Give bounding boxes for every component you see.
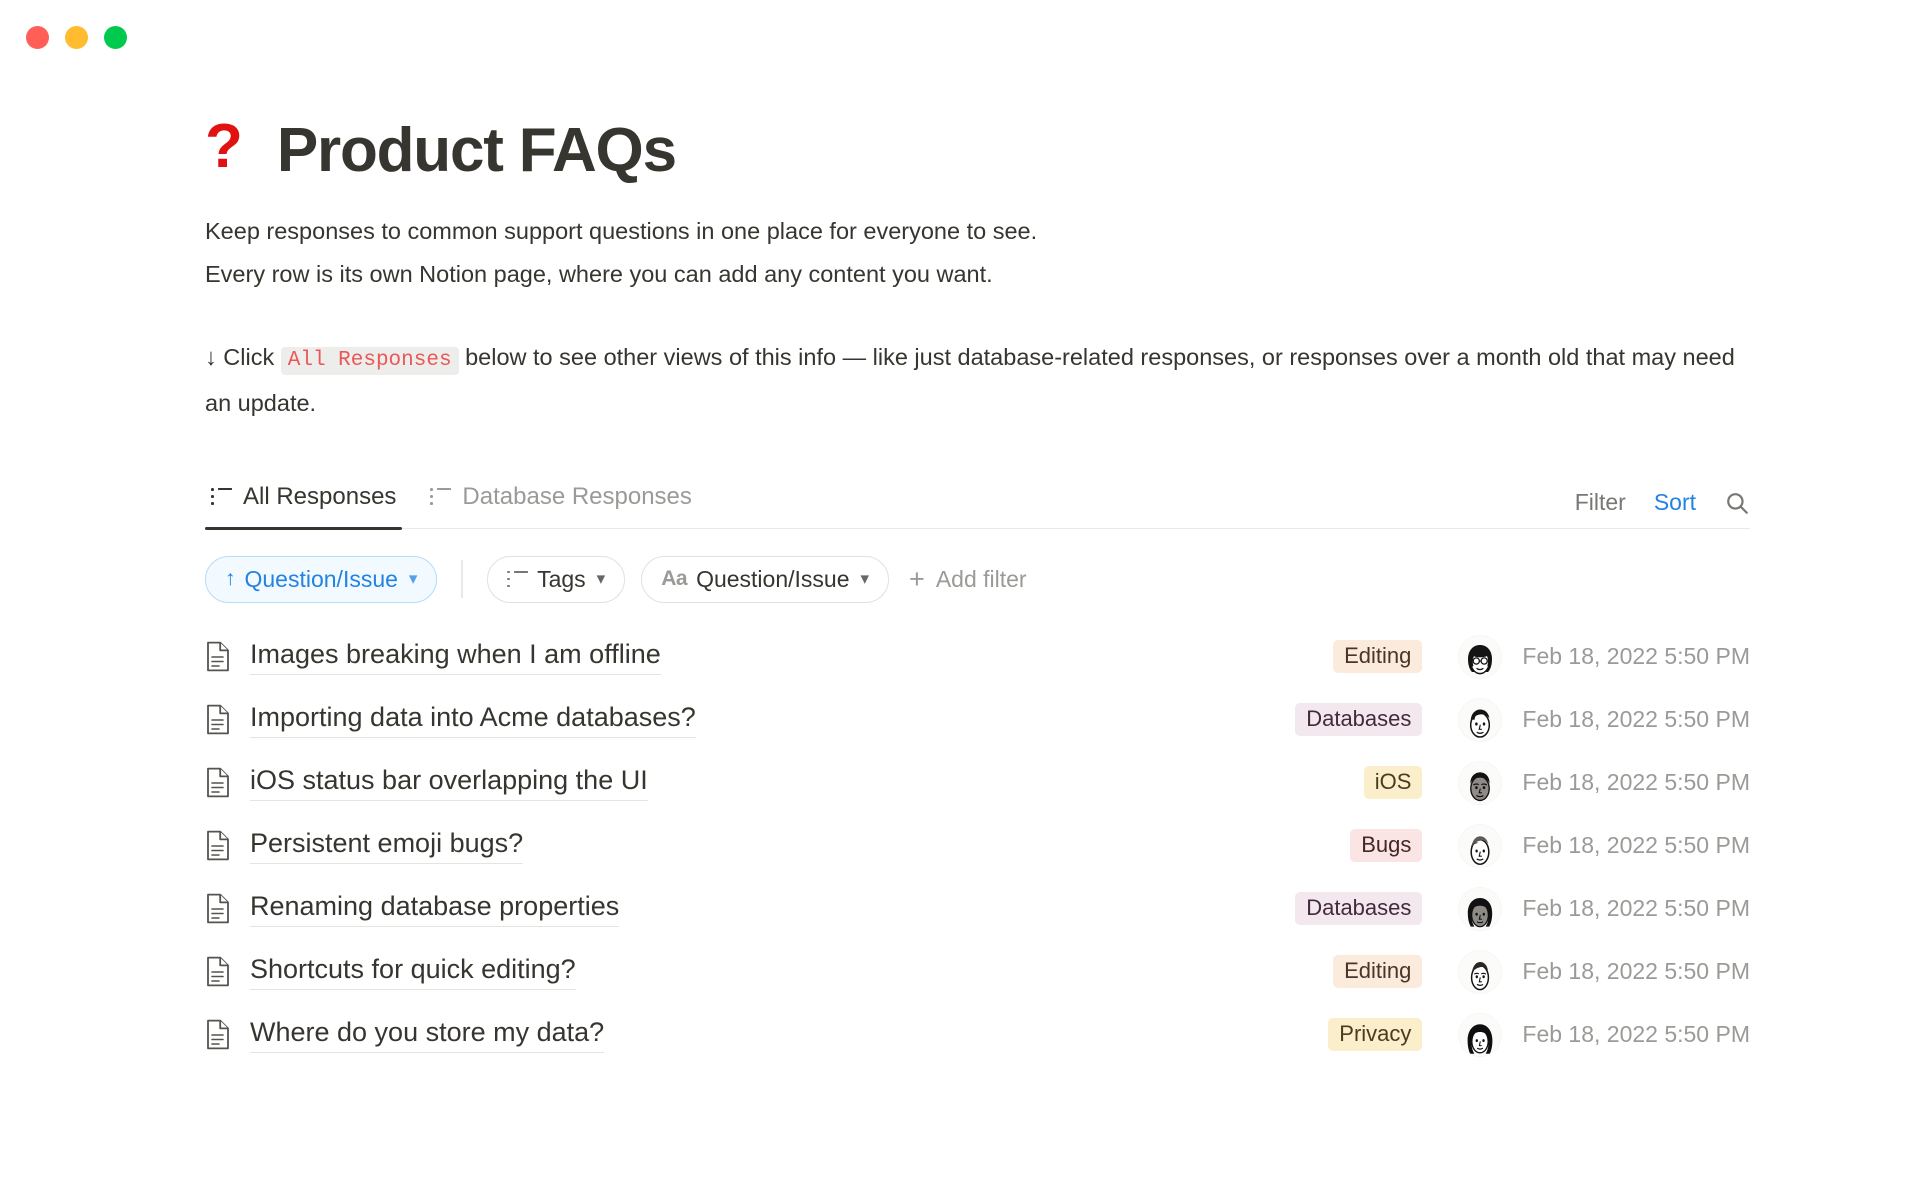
chevron-down-icon: ▾ bbox=[409, 569, 418, 589]
avatar bbox=[1459, 636, 1501, 678]
avatar-cell[interactable] bbox=[1444, 1014, 1516, 1056]
avatar-cell[interactable] bbox=[1444, 699, 1516, 741]
avatar-cell[interactable] bbox=[1444, 951, 1516, 993]
row-main: Shortcuts for quick editing? bbox=[205, 954, 1194, 990]
document-icon bbox=[205, 956, 231, 987]
filter-chip-bar: ↑ Question/Issue ▾ Tags ▾ Aa Question/Is… bbox=[205, 555, 1750, 603]
list-icon bbox=[507, 571, 528, 588]
row-meta: DatabasesFeb 18, 2022 5:50 PM bbox=[1194, 699, 1750, 741]
tag-cell: Privacy bbox=[1194, 1018, 1444, 1051]
avatar bbox=[1459, 951, 1501, 993]
tag-cell: Editing bbox=[1194, 640, 1444, 673]
sort-chip-label: Question/Issue bbox=[245, 566, 398, 593]
filter-chip-question-issue-label: Question/Issue bbox=[696, 566, 849, 593]
text-property-icon: Aa bbox=[661, 567, 687, 591]
table-row[interactable]: Images breaking when I am offlineEditing… bbox=[205, 625, 1750, 688]
filter-button[interactable]: Filter bbox=[1575, 489, 1626, 516]
tag-cell: Bugs bbox=[1194, 829, 1444, 862]
window-maximize-button[interactable] bbox=[104, 26, 127, 49]
chevron-down-icon: ▾ bbox=[860, 569, 869, 589]
filter-chip-question-issue[interactable]: Aa Question/Issue ▾ bbox=[641, 556, 889, 603]
status-badge[interactable]: Editing bbox=[1333, 955, 1422, 988]
avatar bbox=[1459, 888, 1501, 930]
tab-database-responses-label: Database Responses bbox=[462, 483, 691, 511]
status-badge[interactable]: Databases bbox=[1295, 892, 1422, 925]
view-tabs: All Responses Database Responses bbox=[205, 477, 698, 528]
hint-text-before: ↓ Click bbox=[205, 344, 281, 370]
red-question-mark-icon: ? bbox=[205, 116, 243, 178]
row-main: iOS status bar overlapping the UI bbox=[205, 765, 1194, 801]
chip-divider bbox=[461, 560, 463, 598]
row-date: Feb 18, 2022 5:50 PM bbox=[1516, 832, 1750, 859]
tag-cell: Editing bbox=[1194, 955, 1444, 988]
row-title[interactable]: Shortcuts for quick editing? bbox=[250, 954, 576, 990]
add-filter-button[interactable]: + Add filter bbox=[905, 566, 1027, 593]
row-date: Feb 18, 2022 5:50 PM bbox=[1516, 643, 1750, 670]
tab-all-responses-label: All Responses bbox=[243, 483, 396, 511]
avatar-cell[interactable] bbox=[1444, 762, 1516, 804]
row-meta: BugsFeb 18, 2022 5:50 PM bbox=[1194, 825, 1750, 867]
row-title[interactable]: Where do you store my data? bbox=[250, 1017, 604, 1053]
row-meta: iOSFeb 18, 2022 5:50 PM bbox=[1194, 762, 1750, 804]
chevron-down-icon: ▾ bbox=[597, 569, 606, 589]
view-tools: Filter Sort bbox=[1575, 489, 1750, 528]
page-header: ? Product FAQs bbox=[205, 120, 1750, 182]
avatar-cell[interactable] bbox=[1444, 636, 1516, 678]
page-content: ? Product FAQs Keep responses to common … bbox=[0, 120, 1920, 1066]
status-badge[interactable]: Bugs bbox=[1350, 829, 1422, 862]
filter-chip-tags-label: Tags bbox=[537, 566, 586, 593]
status-badge[interactable]: Editing bbox=[1333, 640, 1422, 673]
window-titlebar bbox=[0, 0, 1920, 74]
document-icon bbox=[205, 767, 231, 798]
document-icon bbox=[205, 893, 231, 924]
arrow-up-icon: ↑ bbox=[225, 567, 236, 591]
window-close-button[interactable] bbox=[26, 26, 49, 49]
avatar-cell[interactable] bbox=[1444, 888, 1516, 930]
avatar bbox=[1459, 762, 1501, 804]
row-main: Importing data into Acme databases? bbox=[205, 702, 1194, 738]
plus-icon: + bbox=[909, 566, 925, 593]
row-title[interactable]: Persistent emoji bugs? bbox=[250, 828, 523, 864]
document-icon bbox=[205, 641, 231, 672]
tab-database-responses[interactable]: Database Responses bbox=[424, 477, 697, 528]
table-row[interactable]: iOS status bar overlapping the UIiOSFeb … bbox=[205, 751, 1750, 814]
table-row[interactable]: Where do you store my data?PrivacyFeb 18… bbox=[205, 1003, 1750, 1066]
table-row[interactable]: Shortcuts for quick editing?EditingFeb 1… bbox=[205, 940, 1750, 1003]
description-spacer bbox=[205, 296, 1750, 336]
sort-chip-question-issue[interactable]: ↑ Question/Issue ▾ bbox=[205, 556, 437, 603]
tag-cell: Databases bbox=[1194, 892, 1444, 925]
document-icon bbox=[205, 704, 231, 735]
status-badge[interactable]: Databases bbox=[1295, 703, 1422, 736]
page-description: Keep responses to common support questio… bbox=[205, 210, 1750, 425]
row-meta: EditingFeb 18, 2022 5:50 PM bbox=[1194, 636, 1750, 678]
avatar-cell[interactable] bbox=[1444, 825, 1516, 867]
row-main: Renaming database properties bbox=[205, 891, 1194, 927]
row-title[interactable]: Importing data into Acme databases? bbox=[250, 702, 696, 738]
filter-chip-tags[interactable]: Tags ▾ bbox=[487, 556, 625, 603]
add-filter-label: Add filter bbox=[936, 566, 1027, 593]
description-hint: ↓ Click All Responses below to see other… bbox=[205, 336, 1750, 425]
row-date: Feb 18, 2022 5:50 PM bbox=[1516, 769, 1750, 796]
description-line-2: Every row is its own Notion page, where … bbox=[205, 253, 1750, 296]
row-date: Feb 18, 2022 5:50 PM bbox=[1516, 895, 1750, 922]
page-title: Product FAQs bbox=[277, 120, 676, 182]
sort-button[interactable]: Sort bbox=[1654, 489, 1696, 516]
row-date: Feb 18, 2022 5:50 PM bbox=[1516, 1021, 1750, 1048]
tag-cell: Databases bbox=[1194, 703, 1444, 736]
tab-all-responses[interactable]: All Responses bbox=[205, 477, 402, 528]
row-date: Feb 18, 2022 5:50 PM bbox=[1516, 958, 1750, 985]
row-main: Persistent emoji bugs? bbox=[205, 828, 1194, 864]
table-row[interactable]: Importing data into Acme databases?Datab… bbox=[205, 688, 1750, 751]
database-view-bar: All Responses Database Responses Filter … bbox=[205, 477, 1750, 529]
row-meta: DatabasesFeb 18, 2022 5:50 PM bbox=[1194, 888, 1750, 930]
list-icon bbox=[430, 488, 451, 505]
inline-code-all-responses: All Responses bbox=[281, 347, 459, 375]
avatar bbox=[1459, 699, 1501, 741]
row-title[interactable]: Renaming database properties bbox=[250, 891, 619, 927]
description-line-1: Keep responses to common support questio… bbox=[205, 210, 1750, 253]
list-icon bbox=[211, 488, 232, 505]
row-date: Feb 18, 2022 5:50 PM bbox=[1516, 706, 1750, 733]
document-icon bbox=[205, 1019, 231, 1050]
document-icon bbox=[205, 830, 231, 861]
row-title[interactable]: Images breaking when I am offline bbox=[250, 639, 661, 675]
database-rows: Images breaking when I am offlineEditing… bbox=[205, 625, 1750, 1066]
row-title[interactable]: iOS status bar overlapping the UI bbox=[250, 765, 648, 801]
tag-cell: iOS bbox=[1194, 766, 1444, 799]
status-badge[interactable]: Privacy bbox=[1328, 1018, 1422, 1051]
table-row[interactable]: Renaming database propertiesDatabasesFeb… bbox=[205, 877, 1750, 940]
table-row[interactable]: Persistent emoji bugs?BugsFeb 18, 2022 5… bbox=[205, 814, 1750, 877]
row-main: Images breaking when I am offline bbox=[205, 639, 1194, 675]
row-main: Where do you store my data? bbox=[205, 1017, 1194, 1053]
row-meta: EditingFeb 18, 2022 5:50 PM bbox=[1194, 951, 1750, 993]
avatar bbox=[1459, 825, 1501, 867]
row-meta: PrivacyFeb 18, 2022 5:50 PM bbox=[1194, 1014, 1750, 1056]
avatar bbox=[1459, 1014, 1501, 1056]
window-minimize-button[interactable] bbox=[65, 26, 88, 49]
status-badge[interactable]: iOS bbox=[1364, 766, 1423, 799]
search-icon[interactable] bbox=[1724, 490, 1750, 516]
